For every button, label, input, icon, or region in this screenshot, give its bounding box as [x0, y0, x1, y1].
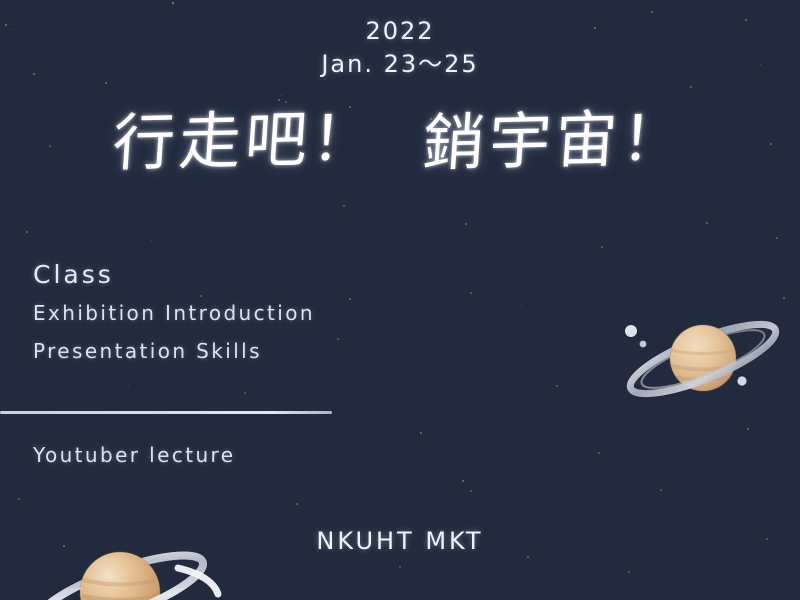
planet-body — [670, 325, 736, 391]
planet-body — [80, 552, 160, 600]
title-part-two: 銷宇宙！ — [420, 99, 690, 183]
star-icon — [706, 222, 708, 224]
date-block: 2022 Jan. 23〜25 — [0, 16, 800, 80]
star-icon — [172, 2, 174, 4]
star-icon — [128, 385, 129, 386]
star-icon — [18, 498, 20, 500]
star-icon — [521, 305, 522, 306]
star-icon — [281, 95, 282, 96]
ring-highlight-left-small — [640, 341, 647, 348]
star-icon — [527, 556, 529, 558]
star-icon — [151, 240, 152, 241]
star-icon — [747, 428, 749, 430]
star-icon — [598, 452, 600, 454]
star-icon — [399, 566, 401, 568]
star-icon — [470, 490, 472, 492]
star-icon — [628, 571, 630, 573]
date-year: 2022 — [0, 16, 800, 46]
star-icon — [556, 385, 558, 387]
ring-highlight-right — [737, 376, 746, 385]
star-icon — [465, 223, 467, 225]
section-divider — [0, 411, 332, 414]
date-range: Jan. 23〜25 — [0, 48, 800, 80]
star-icon — [783, 297, 785, 299]
ring-highlight-right — [178, 568, 218, 594]
ring-highlight-left — [625, 325, 637, 337]
class-item-presentation-skills: Presentation Skills — [33, 334, 315, 368]
star-icon — [470, 292, 472, 294]
class-item-exhibition-introduction: Exhibition Introduction — [33, 296, 315, 330]
star-icon — [462, 480, 464, 482]
page-title: 行走吧！ 銷宇宙！ — [0, 102, 800, 180]
star-icon — [349, 298, 351, 300]
star-icon — [601, 246, 603, 248]
saturn-planet-right-svg — [608, 300, 798, 420]
planet-ring-front — [623, 311, 783, 407]
class-section: Class Exhibition Introduction Presentati… — [33, 258, 315, 368]
planet-ring-back — [623, 311, 783, 407]
star-icon — [651, 11, 653, 13]
youtuber-lecture-label: Youtuber lecture — [33, 440, 235, 470]
title-part-one: 行走吧！ — [110, 99, 380, 183]
footer-organization: NKUHT MKT — [0, 526, 800, 556]
presentation-slide: 2022 Jan. 23〜25 行走吧！ 銷宇宙！ Class Exhibiti… — [0, 0, 800, 600]
saturn-planet-icon — [608, 300, 798, 420]
star-icon — [343, 205, 345, 207]
star-icon — [296, 503, 298, 505]
star-icon — [244, 392, 246, 394]
star-icon — [26, 231, 28, 233]
star-icon — [690, 86, 692, 88]
star-icon — [105, 82, 107, 84]
star-icon — [776, 237, 778, 239]
star-icon — [337, 338, 339, 340]
star-icon — [420, 432, 422, 434]
class-heading: Class — [33, 258, 315, 292]
star-icon — [660, 489, 662, 491]
